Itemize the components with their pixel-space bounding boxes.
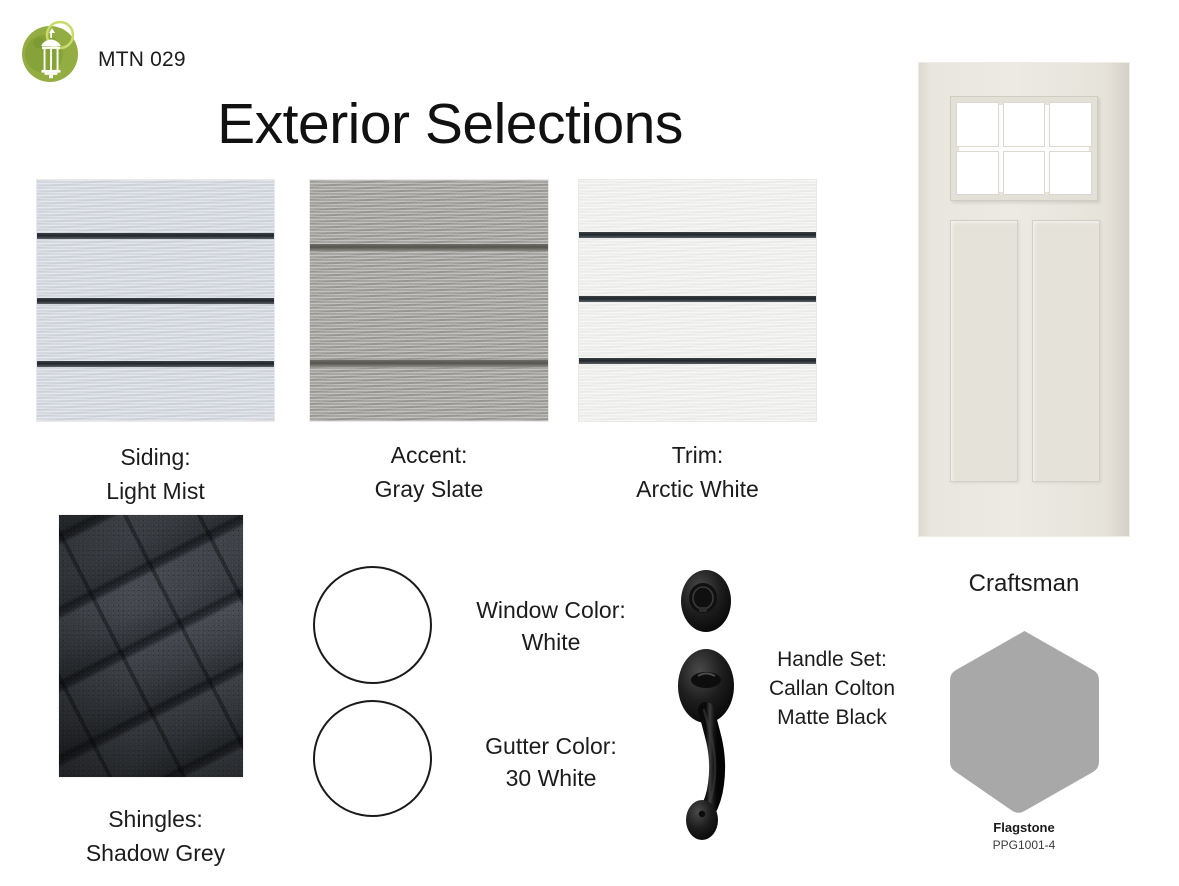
door-pane [1049, 102, 1092, 147]
label-gutter-color-line2: 30 White [440, 762, 662, 794]
project-code: MTN 029 [98, 48, 186, 72]
label-handle-set-line3: Matte Black [737, 703, 927, 732]
label-window-color: Window Color: White [440, 594, 662, 658]
paint-chip-hexagon [947, 628, 1102, 814]
label-gutter-color-line1: Gutter Color: [440, 730, 662, 762]
swatch-woodgrain-texture [310, 180, 548, 421]
siding-lap-line [37, 233, 274, 239]
swatch-window-color [313, 566, 432, 684]
page-title: Exterior Selections [0, 96, 900, 153]
caption-shingles-line2: Shadow Grey [36, 836, 275, 870]
shingle-shading [59, 515, 243, 777]
caption-accent-line1: Accent: [309, 438, 549, 472]
siding-lap-line [37, 298, 274, 304]
door-panel-left [950, 220, 1018, 482]
label-window-color-line1: Window Color: [440, 594, 662, 626]
door-pane [1003, 102, 1046, 147]
accent-lap-line [310, 244, 548, 251]
trim-lap-line [579, 358, 816, 364]
door-pane [956, 102, 999, 147]
caption-siding-line2: Light Mist [36, 474, 275, 508]
label-handle-set: Handle Set: Callan Colton Matte Black [737, 645, 927, 732]
swatch-siding [36, 179, 275, 422]
door-image [918, 62, 1130, 537]
label-handle-set-line2: Callan Colton [737, 674, 927, 703]
caption-shingles-line1: Shingles: [36, 802, 275, 836]
caption-trim-line2: Arctic White [578, 472, 817, 506]
lantern-logo-icon [14, 12, 90, 88]
caption-accent: Accent: Gray Slate [309, 438, 549, 506]
door-pane [956, 151, 999, 196]
siding-lap-line [37, 361, 274, 367]
label-handle-set-line1: Handle Set: [737, 645, 927, 674]
door-lite-frame [950, 96, 1098, 201]
logo-block: MTN 029 [14, 12, 274, 92]
caption-accent-line2: Gray Slate [309, 472, 549, 506]
swatch-gutter-color [313, 700, 432, 817]
caption-siding-line1: Siding: [36, 440, 275, 474]
door-lite-glass [956, 102, 1092, 195]
caption-trim-line1: Trim: [578, 438, 817, 472]
door-pane [1049, 151, 1092, 196]
swatch-accent [309, 179, 549, 422]
caption-siding: Siding: Light Mist [36, 440, 275, 508]
caption-trim: Trim: Arctic White [578, 438, 817, 506]
trim-lap-line [579, 232, 816, 238]
swatch-shingles [58, 514, 244, 778]
door-panel-right [1032, 220, 1100, 482]
label-window-color-line2: White [440, 626, 662, 658]
caption-shingles: Shingles: Shadow Grey [36, 802, 275, 870]
paint-chip-name: Flagstone [918, 820, 1130, 835]
swatch-trim [578, 179, 817, 422]
accent-lap-line [310, 360, 548, 367]
trim-lap-line [579, 296, 816, 302]
label-gutter-color: Gutter Color: 30 White [440, 730, 662, 794]
paint-chip-code: PPG1001-4 [918, 838, 1130, 852]
label-door-style: Craftsman [918, 570, 1130, 598]
door-pane [1003, 151, 1046, 196]
